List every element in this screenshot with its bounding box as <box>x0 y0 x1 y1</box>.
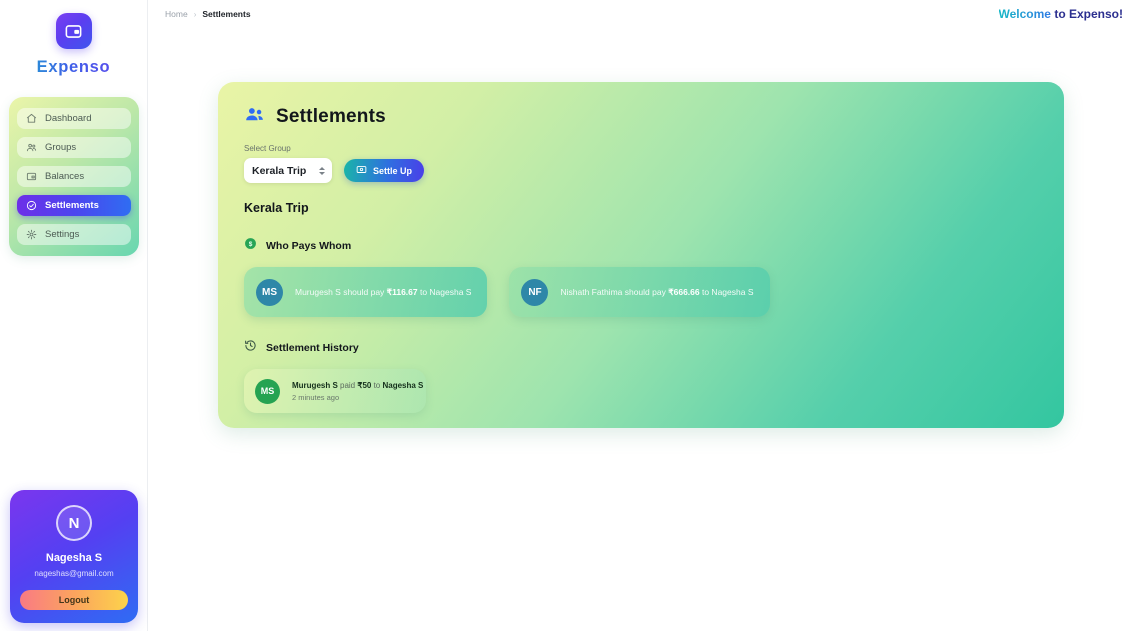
settlement-history-title: Settlement History <box>266 342 359 354</box>
people-icon <box>26 142 37 153</box>
sidebar-item-label: Settlements <box>45 200 99 211</box>
settlement-amount: ₹116.67 <box>387 287 418 297</box>
app-root: Expenso Dashboard Groups <box>0 0 1134 631</box>
settlement-history-header: Settlement History <box>244 339 1038 357</box>
wallet-icon <box>56 13 92 49</box>
group-name: Kerala Trip <box>244 201 1038 215</box>
sidebar-item-dashboard[interactable]: Dashboard <box>17 108 131 129</box>
sidebar-item-label: Dashboard <box>45 113 91 124</box>
history-to: to <box>371 381 382 390</box>
brand-name: Expenso <box>0 58 147 77</box>
settlement-suffix: to Nagesha S <box>700 287 754 297</box>
brand[interactable]: Expenso <box>0 0 147 77</box>
settlement-text: Nishath Fathima should pay ₹666.66 to Na… <box>560 287 753 298</box>
panel-controls: Kerala Trip Settle Up <box>244 158 1038 183</box>
gear-icon <box>26 229 37 240</box>
settlement-prefix: Murugesh S should pay <box>295 287 387 297</box>
card-icon <box>26 171 37 182</box>
avatar: MS <box>255 379 280 404</box>
select-group-label: Select Group <box>244 144 1038 153</box>
welcome-suffix: to Expenso! <box>1051 7 1123 21</box>
settlement-row[interactable]: MS Murugesh S should pay ₹116.67 to Nage… <box>244 267 487 317</box>
breadcrumb: Home › Settlements <box>165 9 251 19</box>
group-select[interactable]: Kerala Trip <box>244 158 332 183</box>
welcome-message: Welcome to Expenso! <box>999 7 1123 21</box>
who-pays-whom-list: MS Murugesh S should pay ₹116.67 to Nage… <box>244 267 1038 317</box>
topbar: Home › Settlements Welcome to Expenso! <box>148 0 1134 28</box>
sidebar-item-settings[interactable]: Settings <box>17 224 131 245</box>
history-row[interactable]: MS Murugesh S paid ₹50 to Nagesha S 2 mi… <box>244 369 426 413</box>
profile-email: nageshas@gmail.com <box>20 569 128 578</box>
user-profile-card: N Nagesha S nageshas@gmail.com Logout <box>10 490 138 623</box>
breadcrumb-current: Settlements <box>202 9 250 19</box>
history-payer: Murugesh S <box>292 381 338 390</box>
who-pays-whom-title: Who Pays Whom <box>266 240 351 252</box>
breadcrumb-home[interactable]: Home <box>165 9 188 19</box>
panel-header: Settlements <box>244 104 1038 130</box>
history-description: Murugesh S paid ₹50 to Nagesha S <box>292 381 423 390</box>
svg-text:$: $ <box>249 241 253 248</box>
main-content: Home › Settlements Welcome to Expenso! S… <box>148 0 1134 631</box>
people-icon <box>244 104 265 130</box>
settlement-prefix: Nishath Fathima should pay <box>560 287 668 297</box>
history-amount: ₹50 <box>357 381 371 390</box>
welcome-prefix: Welcome <box>999 7 1051 21</box>
settlement-text: Murugesh S should pay ₹116.67 to Nagesha… <box>295 287 471 298</box>
avatar: N <box>56 505 92 541</box>
logout-button[interactable]: Logout <box>20 590 128 610</box>
sidebar: Expenso Dashboard Groups <box>0 0 148 631</box>
sidebar-nav: Dashboard Groups Balances <box>9 97 139 256</box>
page-title: Settlements <box>276 106 386 128</box>
breadcrumb-separator: › <box>194 10 197 19</box>
avatar: MS <box>256 279 283 306</box>
sidebar-item-groups[interactable]: Groups <box>17 137 131 158</box>
history-text: Murugesh S paid ₹50 to Nagesha S 2 minut… <box>292 381 423 402</box>
avatar: NF <box>521 279 548 306</box>
history-verb: paid <box>338 381 358 390</box>
sidebar-item-label: Groups <box>45 142 76 153</box>
profile-name: Nagesha S <box>20 552 128 564</box>
clock-history-icon <box>244 339 257 357</box>
sidebar-item-settlements[interactable]: Settlements <box>17 195 131 216</box>
dollar-circle-icon: $ <box>244 237 257 255</box>
who-pays-whom-header: $ Who Pays Whom <box>244 237 1038 255</box>
sidebar-item-balances[interactable]: Balances <box>17 166 131 187</box>
settlement-suffix: to Nagesha S <box>418 287 472 297</box>
settlement-row[interactable]: NF Nishath Fathima should pay ₹666.66 to… <box>509 267 769 317</box>
sidebar-item-label: Settings <box>45 229 79 240</box>
history-payee: Nagesha S <box>382 381 423 390</box>
history-timestamp: 2 minutes ago <box>292 393 423 402</box>
home-icon <box>26 113 37 124</box>
settlements-panel: Settlements Select Group Kerala Trip Set… <box>218 82 1064 428</box>
settlement-amount: ₹666.66 <box>668 287 699 297</box>
settle-up-label: Settle Up <box>373 166 412 176</box>
group-select-value: Kerala Trip <box>252 165 306 177</box>
handshake-icon <box>26 200 37 211</box>
money-card-icon <box>356 164 367 177</box>
settle-up-button[interactable]: Settle Up <box>344 159 424 182</box>
chevron-updown-icon <box>319 167 325 175</box>
sidebar-item-label: Balances <box>45 171 84 182</box>
